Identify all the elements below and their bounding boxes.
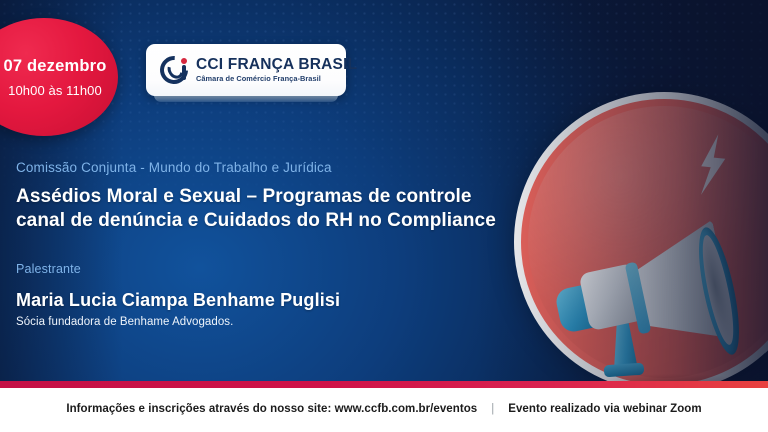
- footer-accent-stripe: [0, 381, 768, 388]
- footer-info-text: Informações e inscrições através do noss…: [66, 403, 477, 415]
- event-banner: CCI FRANÇA BRASIL Câmara de Comércio Fra…: [0, 0, 768, 432]
- speaker-label: Palestrante: [16, 262, 476, 276]
- date-badge-date: 07 dezembro: [3, 57, 106, 76]
- logo-card: CCI FRANÇA BRASIL Câmara de Comércio Fra…: [146, 44, 346, 96]
- date-badge-time: 10h00 às 11h00: [8, 83, 102, 98]
- headline-line-1: Assédios Moral e Sexual – Programas de c…: [16, 186, 472, 207]
- logo-subtitle: Câmara de Comércio França-Brasil: [196, 75, 357, 82]
- speaker-name: Maria Lucia Ciampa Benhame Puglisi: [16, 290, 476, 311]
- commission-eyebrow: Comissão Conjunta - Mundo do Trabalho e …: [16, 160, 556, 175]
- speaker-role: Sócia fundadora de Benhame Advogados.: [16, 316, 476, 328]
- headline-line-2: canal de denúncia e Cuidados do RH no Co…: [16, 210, 496, 231]
- footer-platform-text: Evento realizado via webinar Zoom: [508, 403, 701, 415]
- headline: Assédios Moral e Sexual – Programas de c…: [16, 185, 556, 232]
- main-copy: Comissão Conjunta - Mundo do Trabalho e …: [16, 160, 556, 232]
- cci-logo-mark-icon: [160, 56, 188, 84]
- logo-text-group: CCI FRANÇA BRASIL Câmara de Comércio Fra…: [196, 57, 357, 82]
- speaker-block: Palestrante Maria Lucia Ciampa Benhame P…: [16, 262, 476, 328]
- logo-title: CCI FRANÇA BRASIL: [196, 57, 357, 73]
- footer-content: Informações e inscrições através do noss…: [66, 403, 701, 417]
- footer-bar: Informações e inscrições através do noss…: [0, 388, 768, 432]
- footer-separator: |: [491, 403, 494, 415]
